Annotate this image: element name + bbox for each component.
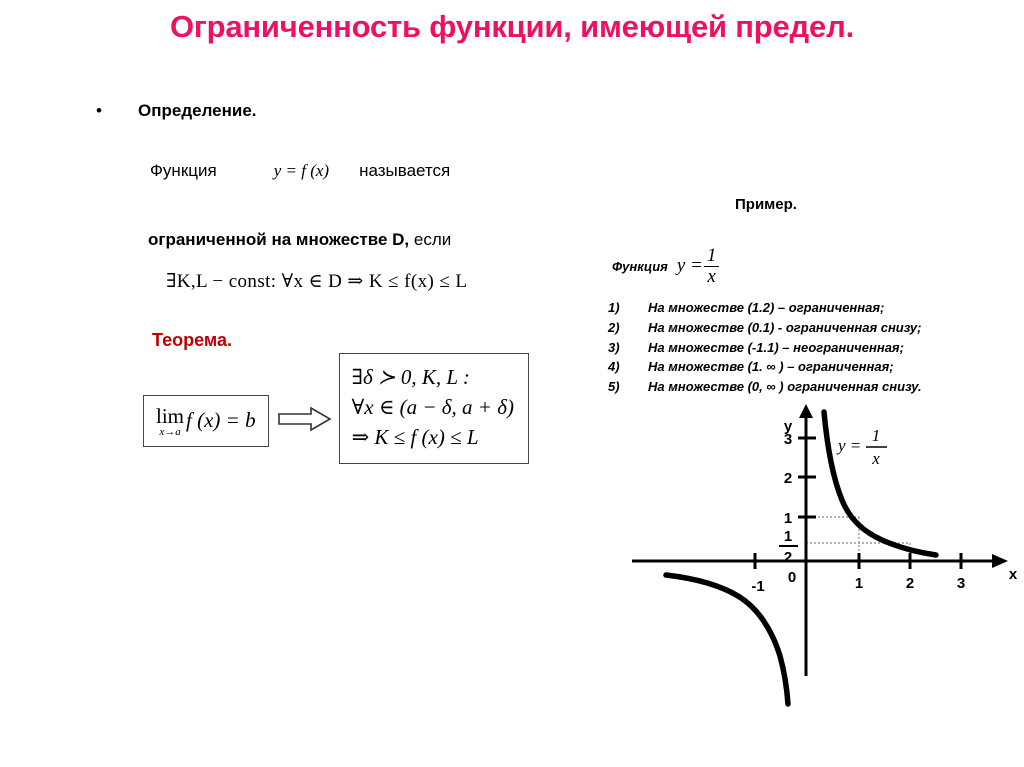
list-item-number: 2)	[608, 318, 648, 338]
x-tick-label: 3	[957, 575, 965, 592]
implies-arrow-icon	[277, 406, 333, 437]
example-list: 1) На множестве (1.2) – ограниченная; 2)…	[608, 298, 922, 397]
list-item-text: На множестве (1. ∞ ) – ограниченная;	[648, 357, 894, 377]
definition-function-line: Функция y = f (x) называется	[150, 161, 450, 181]
x-axis-label: x	[1009, 566, 1018, 583]
bounded-phrase-line: ограниченной на множестве D, если	[148, 230, 451, 250]
x-axis	[632, 554, 1008, 568]
list-item: 4) На множестве (1. ∞ ) – ограниченная;	[608, 357, 922, 377]
theorem-line-3: ⇒ K ≤ f (x) ≤ L	[352, 423, 514, 453]
list-item-number: 1)	[608, 298, 648, 318]
theorem-label: Теорема.	[152, 330, 232, 351]
definition-label: Определение.	[138, 101, 257, 121]
called-word: называется	[359, 161, 450, 181]
theorem-box: ∃δ ≻ 0, K, L : ∀x ∈ (a − δ, a + δ) ⇒ K ≤…	[339, 353, 529, 464]
list-item-text: На множестве (0, ∞ ) ограниченная снизу.	[648, 377, 922, 397]
half-denominator: 2	[784, 549, 792, 566]
list-item: 5) На множестве (0, ∞ ) ограниченная сни…	[608, 377, 922, 397]
function-expression: y = f (x)	[274, 161, 329, 181]
x-tick-label: 2	[906, 575, 914, 592]
list-item-number: 3)	[608, 338, 648, 358]
curve-label-numerator: 1	[872, 426, 881, 445]
example-function-line: Функция y = 1 x	[612, 246, 720, 287]
example-function-expression: y = 1 x	[677, 246, 721, 287]
list-item-text: На множестве (0.1) - ограниченная снизу;	[648, 318, 921, 338]
page-title: Ограниченность функции, имеющей предел.	[112, 8, 912, 46]
half-numerator: 1	[784, 528, 792, 545]
list-item: 2) На множестве (0.1) - ограниченная сни…	[608, 318, 922, 338]
y-tick-label: 1	[784, 510, 792, 527]
definition-formula: ∃K,L − const: ∀x ∈ D ⇒ K ≤ f(x) ≤ L	[166, 270, 467, 293]
limit-subscript: x→a	[159, 426, 180, 438]
example-function-word: Функция	[612, 259, 668, 274]
curve-label-denominator: x	[871, 449, 880, 468]
curve-label: y = 1 x	[836, 426, 887, 468]
example-fraction-numerator: 1	[704, 246, 720, 266]
list-item-number: 4)	[608, 357, 648, 377]
list-item-text: На множестве (-1.1) – неограниченная;	[648, 338, 904, 358]
y-tick-label: 2	[784, 470, 792, 487]
list-item-number: 5)	[608, 377, 648, 397]
definition-heading: • Определение.	[96, 101, 257, 121]
list-item-text: На множестве (1.2) – ограниченная;	[648, 298, 884, 318]
limit-operator: lim x→a	[156, 406, 184, 438]
curve-label-lhs: y =	[836, 436, 861, 455]
bounded-phrase: ограниченной на множестве D,	[148, 230, 409, 249]
example-fraction: 1 x	[704, 246, 720, 287]
theorem-line-1: ∃δ ≻ 0, K, L :	[352, 363, 514, 393]
hyperbola-graph: y x 0 -1 1 2 3 3 2 1 1 2 y = 1 x	[620, 404, 1024, 724]
function-word: Функция	[150, 161, 217, 181]
origin-label: 0	[788, 569, 796, 586]
x-tick-label: -1	[751, 578, 764, 595]
x-tick-label: 1	[855, 575, 863, 592]
limit-body: f (x) = b	[186, 408, 256, 432]
y-tick-label: 3	[784, 431, 792, 448]
bounded-tail: если	[409, 230, 451, 249]
example-fraction-denominator: x	[704, 267, 718, 287]
theorem-line-2: ∀x ∈ (a − δ, a + δ)	[352, 393, 514, 423]
example-label: Пример.	[735, 196, 797, 213]
example-function-lhs: y =	[677, 255, 703, 277]
theorem-diagram: lim x→a f (x) = b ∃δ ≻ 0, K, L : ∀x ∈ (a…	[143, 353, 529, 464]
limit-box: lim x→a f (x) = b	[143, 395, 269, 447]
y-axis	[799, 404, 813, 676]
list-item: 1) На множестве (1.2) – ограниченная;	[608, 298, 922, 318]
limit-op-text: lim	[156, 406, 184, 427]
list-item: 3) На множестве (-1.1) – неограниченная;	[608, 338, 922, 358]
bullet-icon: •	[96, 102, 138, 119]
hyperbola-negative-branch	[666, 575, 788, 704]
